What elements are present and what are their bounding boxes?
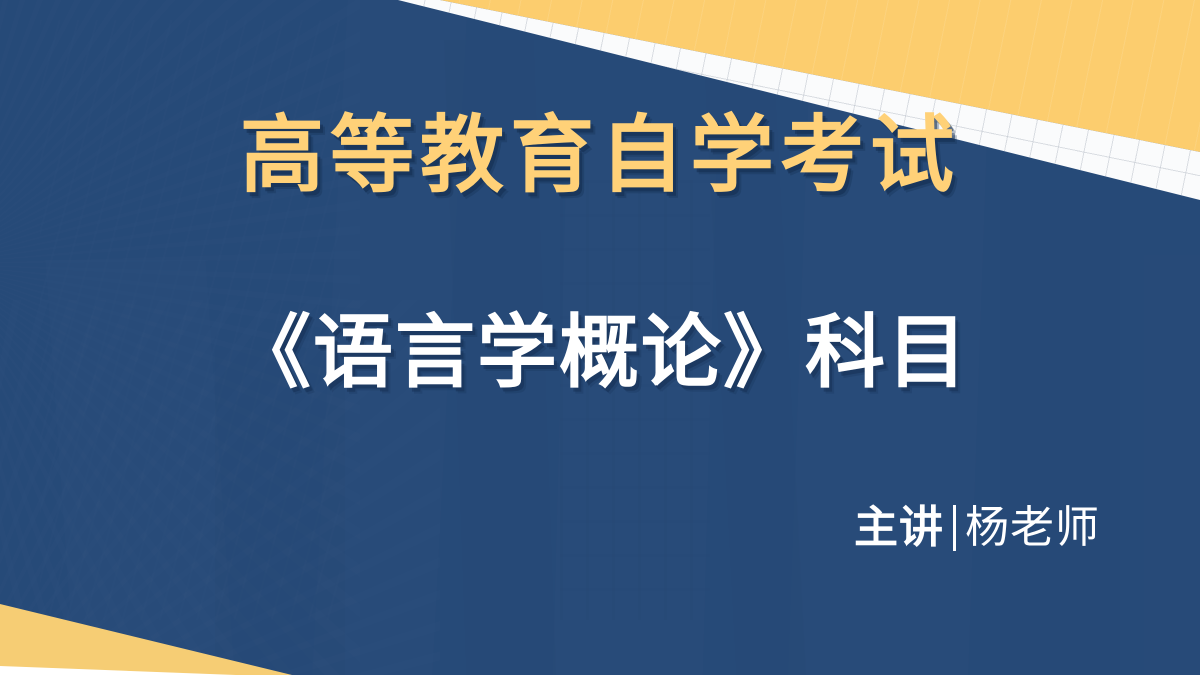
slide-title: 高等教育自学考试 — [0, 113, 1200, 197]
presenter-separator-bar — [953, 505, 956, 551]
presenter-credit: 主讲 杨老师 — [854, 505, 1100, 551]
presenter-name: 杨老师 — [965, 506, 1100, 550]
slide-subtitle: 《语言学概论》科目 — [0, 313, 1200, 393]
slide-content: 高等教育自学考试 《语言学概论》科目 主讲 杨老师 — [0, 0, 1200, 675]
course-cover-slide: 高等教育自学考试 《语言学概论》科目 主讲 杨老师 — [0, 0, 1200, 675]
presenter-role-label: 主讲 — [854, 506, 944, 550]
